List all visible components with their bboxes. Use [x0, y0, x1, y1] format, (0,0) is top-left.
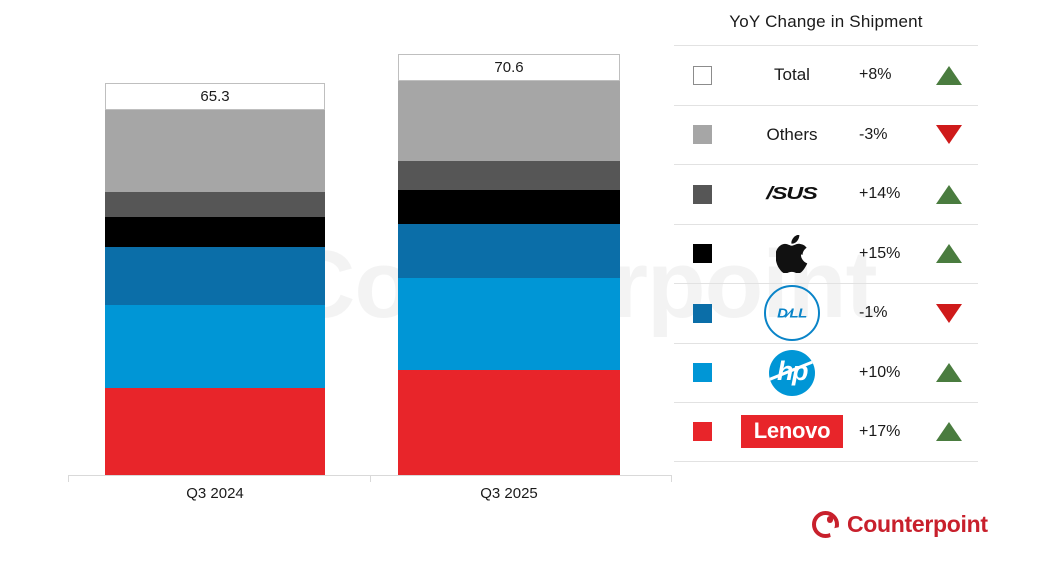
counterpoint-mark-icon [812, 511, 839, 538]
legend-color-swatch-total [693, 66, 712, 85]
asus-logo-icon: /SUS [767, 184, 817, 204]
arrow-up-icon [936, 244, 962, 263]
bar-segment-apple[interactable] [105, 217, 325, 247]
stacked-bar[interactable] [105, 110, 325, 475]
legend-arrow-cell [922, 363, 976, 382]
x-axis-tick [68, 475, 69, 482]
bar-segment-dell[interactable] [398, 224, 620, 278]
bar-segment-asus[interactable] [398, 161, 620, 190]
dell-logo-text: D∕LL [777, 306, 807, 320]
arrow-down-icon [936, 125, 962, 144]
bar-segment-lenovo[interactable] [105, 388, 325, 475]
arrow-up-icon [936, 422, 962, 441]
legend-arrow-cell [922, 304, 976, 323]
legend-change-value-apple: +15% [854, 245, 922, 263]
legend-color-swatch-asus [693, 185, 712, 204]
arrow-down-icon [936, 304, 962, 323]
legend-color-swatch-apple [693, 244, 712, 263]
legend-name-cell: hp [730, 350, 854, 396]
legend-arrow-cell [922, 422, 976, 441]
x-axis-tick [370, 475, 371, 482]
legend-color-swatch-lenovo [693, 422, 712, 441]
apple-logo-icon [776, 235, 808, 273]
legend-series-label: Total [774, 65, 810, 85]
arrow-up-icon [936, 363, 962, 382]
bar-segment-asus[interactable] [105, 192, 325, 217]
legend-arrow-cell [922, 185, 976, 204]
legend-rows: Total+8%Others-3%/SUS+14%+15%D∕LL-1%hp+1… [674, 45, 978, 462]
counterpoint-wordmark: Counterpoint [847, 511, 988, 538]
legend-arrow-cell [922, 125, 976, 144]
legend-swatch-cell [674, 244, 730, 263]
hp-logo-icon: hp [769, 350, 815, 396]
bar-segment-apple[interactable] [398, 190, 620, 224]
bar-total-label: 65.3 [105, 83, 325, 110]
legend-name-cell: Total [730, 65, 854, 85]
lenovo-logo-icon: Lenovo [741, 415, 843, 448]
legend-change-value-lenovo: +17% [854, 423, 922, 441]
legend-row-apple[interactable]: +15% [674, 224, 978, 284]
legend-color-swatch-dell [693, 304, 712, 323]
dell-logo-icon: D∕LL [764, 285, 820, 341]
bar-segment-lenovo[interactable] [398, 370, 620, 475]
arrow-up-icon [936, 185, 962, 204]
legend-row-asus[interactable]: /SUS+14% [674, 164, 978, 224]
legend-color-swatch-hp [693, 363, 712, 382]
legend-name-cell: /SUS [730, 182, 854, 206]
legend-swatch-cell [674, 304, 730, 323]
bar-segment-others[interactable] [105, 110, 325, 192]
bar-segment-hp[interactable] [105, 305, 325, 388]
legend-swatch-cell [674, 125, 730, 144]
legend-row-others[interactable]: Others-3% [674, 105, 978, 165]
counterpoint-logo: Counterpoint [812, 508, 988, 540]
x-axis-category-label: Q3 2024 [105, 485, 325, 502]
legend-change-value-hp: +10% [854, 364, 922, 382]
bar-segment-dell[interactable] [105, 247, 325, 305]
x-axis-category-label: Q3 2025 [398, 485, 620, 502]
legend-change-value-others: -3% [854, 126, 922, 144]
legend-title: YoY Change in Shipment [674, 8, 978, 45]
legend-name-cell: Others [730, 125, 854, 145]
bar-total-label: 70.6 [398, 54, 620, 81]
legend-row-total[interactable]: Total+8% [674, 45, 978, 105]
hp-logo-text: hp [777, 358, 807, 385]
legend-change-value-total: +8% [854, 66, 922, 84]
bar-segment-hp[interactable] [398, 278, 620, 370]
counterpoint-notch-icon [829, 527, 842, 539]
legend-row-hp[interactable]: hp+10% [674, 343, 978, 403]
bar-segment-others[interactable] [398, 81, 620, 161]
legend-name-cell [730, 235, 854, 273]
legend-swatch-cell [674, 363, 730, 382]
legend-panel: YoY Change in Shipment Total+8%Others-3%… [674, 8, 978, 462]
x-axis-tick [671, 475, 672, 482]
legend-name-cell: Lenovo [730, 415, 854, 448]
legend-arrow-cell [922, 66, 976, 85]
stacked-bar[interactable] [398, 81, 620, 475]
legend-swatch-cell [674, 422, 730, 441]
legend-arrow-cell [922, 244, 976, 263]
legend-color-swatch-others [693, 125, 712, 144]
counterpoint-dot-icon [827, 516, 834, 523]
legend-swatch-cell [674, 66, 730, 85]
legend-series-label: Others [766, 125, 817, 145]
legend-change-value-asus: +14% [854, 185, 922, 203]
chart-plot-area: 65.370.6 Q3 2024Q3 2025 [0, 0, 672, 564]
legend-row-lenovo[interactable]: Lenovo+17% [674, 402, 978, 462]
legend-row-dell[interactable]: D∕LL-1% [674, 283, 978, 343]
arrow-up-icon [936, 66, 962, 85]
legend-swatch-cell [674, 185, 730, 204]
legend-change-value-dell: -1% [854, 304, 922, 322]
legend-name-cell: D∕LL [730, 285, 854, 341]
